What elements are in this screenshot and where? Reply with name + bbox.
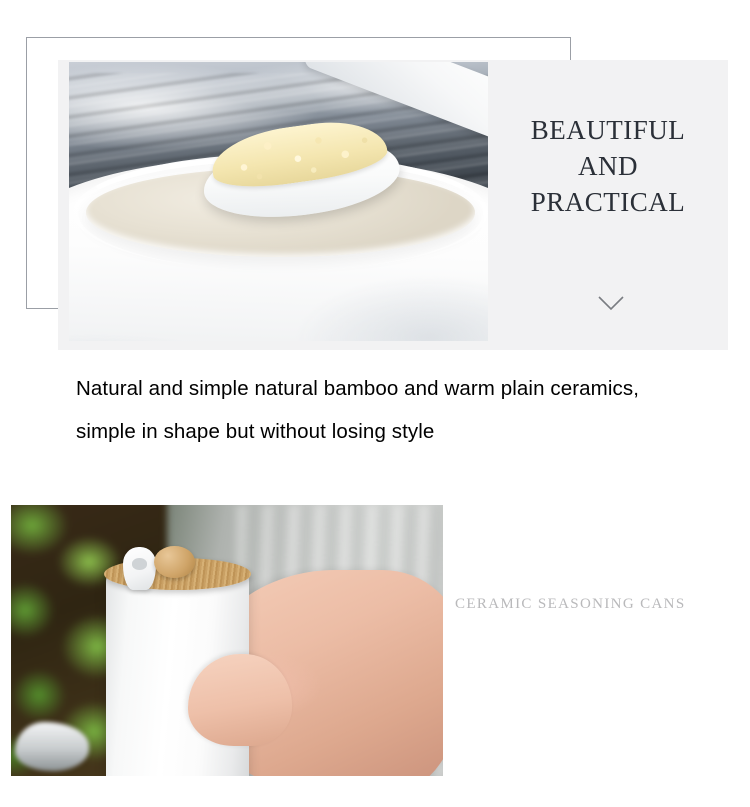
ceramic-canister-photo xyxy=(11,505,443,776)
thumb xyxy=(188,654,292,746)
ceramic-spoon xyxy=(123,547,155,590)
product-caption: CERAMIC SEASONING CANS xyxy=(455,596,686,613)
hero-section: BEAUTIFUL AND PRACTICAL xyxy=(0,0,750,360)
product-description-text: Natural and simple natural bamboo and wa… xyxy=(76,367,676,453)
blurred-faucet xyxy=(15,722,88,771)
chevron-down-icon xyxy=(596,294,626,312)
wooden-knob xyxy=(154,546,195,579)
seasoning-spoon-photo xyxy=(69,62,488,341)
hero-heading: BEAUTIFUL AND PRACTICAL xyxy=(488,112,728,220)
